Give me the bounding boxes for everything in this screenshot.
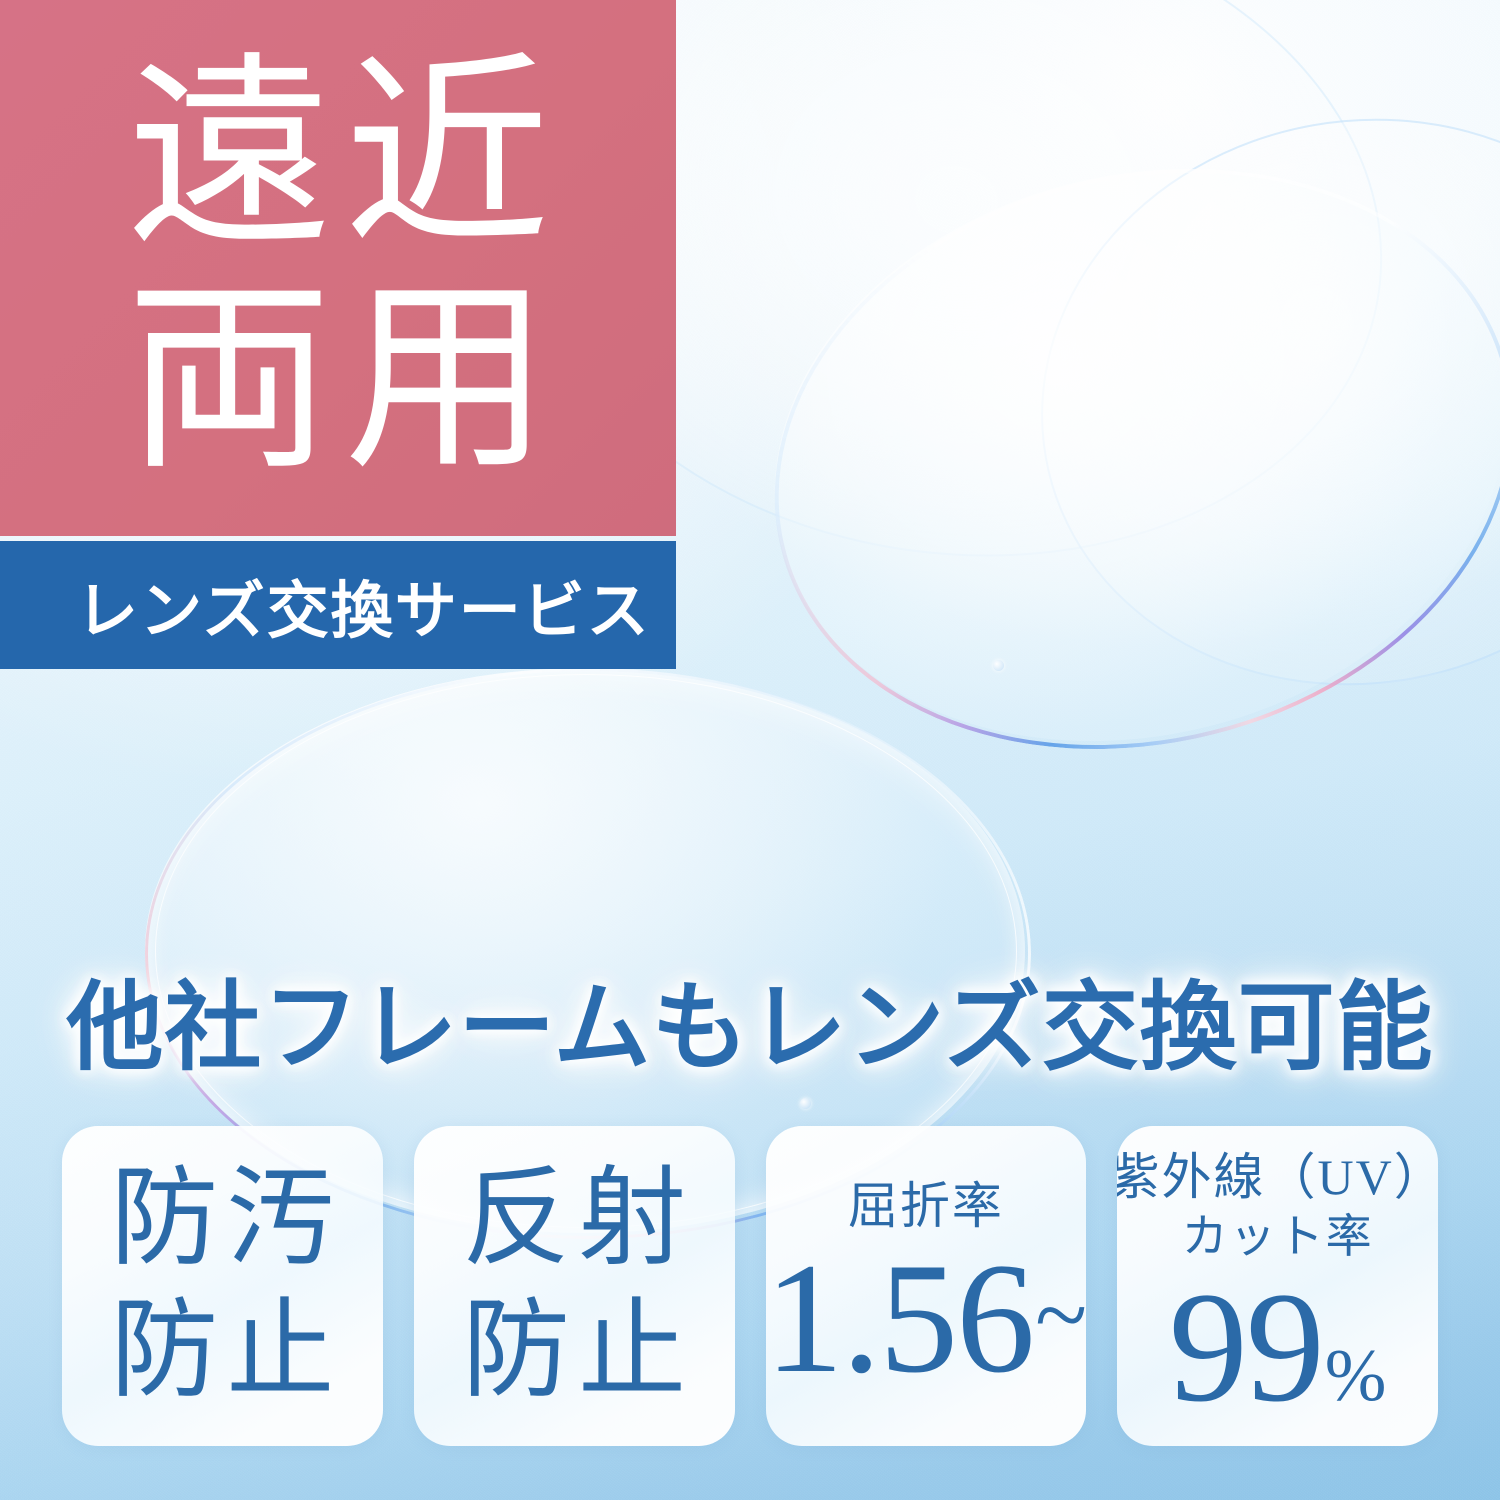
hero-title: 遠近 両用 — [0, 0, 676, 536]
anti-reflection-line-2: 防止 — [454, 1286, 694, 1418]
uv-cut-rate-stack: 紫外線（UV） カット率 99 % — [1117, 1149, 1438, 1427]
refractive-index-value: 1.56 — [766, 1240, 1034, 1398]
poster-canvas: 遠近 両用 レンズ交換サービス 他社フレームもレンズ交換可能 防汚 防止 反射 … — [0, 0, 1500, 1500]
lens-speck-icon — [800, 1098, 811, 1109]
hero-blue-banner: レンズ交換サービス — [0, 541, 676, 669]
lens-speck-icon — [993, 660, 1004, 671]
hero-title-line-1: 遠近 — [114, 47, 562, 265]
anti-reflection-line-1: 反射 — [454, 1154, 694, 1286]
refractive-index-label: 屈折率 — [848, 1178, 1004, 1234]
hero-subtitle: レンズ交換サービス — [0, 560, 651, 650]
uv-cut-rate-value-row: 99 % — [1169, 1269, 1387, 1427]
refractive-index-value-row: 1.56 ~ — [766, 1240, 1087, 1398]
uv-cut-rate-value: 99 — [1169, 1269, 1323, 1427]
page-headline: 他社フレームもレンズ交換可能 — [0, 948, 1500, 1089]
refractive-index-suffix: ~ — [1035, 1267, 1086, 1363]
hero-title-line-2: 両用 — [114, 271, 562, 489]
uv-cut-rate-label-line-1: 紫外線（UV） — [1117, 1149, 1438, 1205]
feature-card-uv-cut-rate[interactable]: 紫外線（UV） カット率 99 % — [1117, 1126, 1438, 1446]
feature-card-refractive-index[interactable]: 屈折率 1.56 ~ — [766, 1126, 1087, 1446]
feature-card-row: 防汚 防止 反射 防止 屈折率 1.56 ~ 紫外線（UV） カット率 99 — [62, 1126, 1438, 1446]
anti-stain-line-1: 防汚 — [102, 1154, 342, 1286]
uv-cut-rate-suffix: % — [1325, 1339, 1387, 1413]
refractive-index-stack: 屈折率 1.56 ~ — [766, 1178, 1087, 1398]
feature-card-anti-reflection[interactable]: 反射 防止 — [414, 1126, 735, 1446]
feature-card-anti-stain[interactable]: 防汚 防止 — [62, 1126, 383, 1446]
anti-stain-line-2: 防止 — [102, 1286, 342, 1418]
uv-cut-rate-label-line-2: カット率 — [1182, 1211, 1374, 1263]
